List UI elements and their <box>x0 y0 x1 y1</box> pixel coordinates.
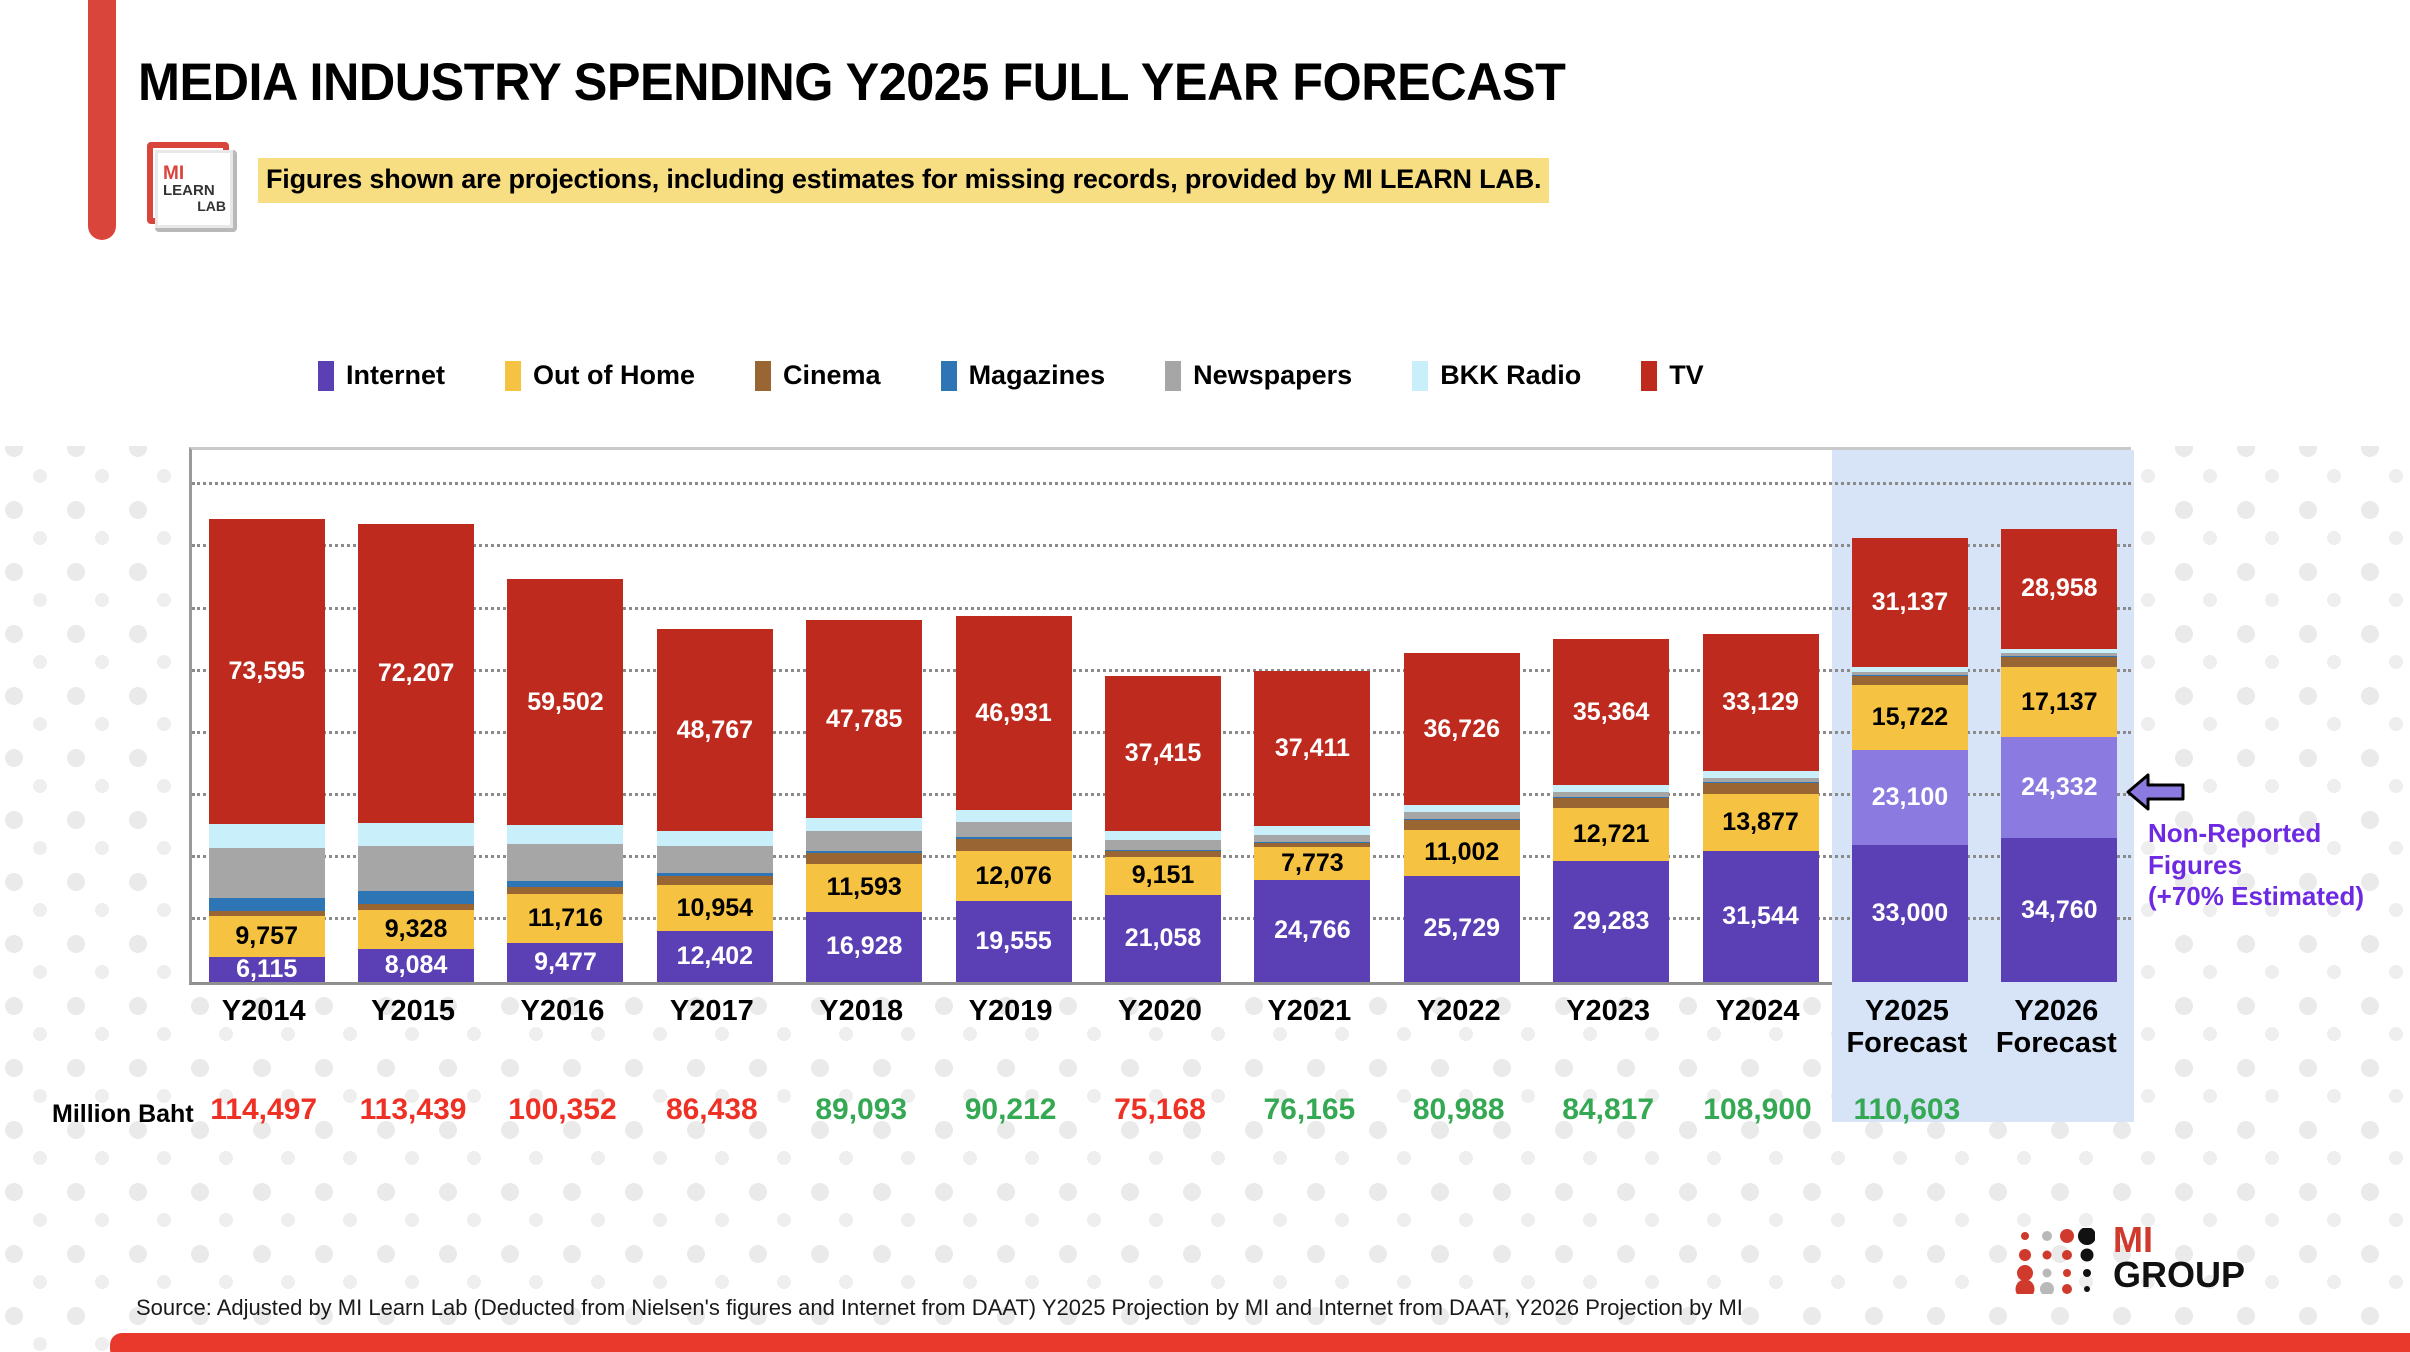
mi-group-dot-matrix-icon <box>2013 1228 2095 1294</box>
bar-segment-tv: 31,137 <box>1852 538 1968 667</box>
bar-segment-value: 17,137 <box>2021 690 2097 715</box>
bar-segment-tv: 35,364 <box>1553 639 1669 785</box>
bar-segment-internet: 19,555 <box>956 901 1072 982</box>
x-axis-label-line1: Y2023 <box>1533 995 1682 1027</box>
bar-segment-value: 19,555 <box>975 929 1051 954</box>
bar-segment-tv: 28,958 <box>2001 529 2117 649</box>
bar-segment-bkk-radio <box>1703 771 1819 778</box>
bar-segment-magazines <box>1404 819 1520 820</box>
bar-segment-out-of-home: 11,593 <box>806 864 922 912</box>
bar-segment-value: 10,954 <box>677 896 753 921</box>
x-axis-label-line2: Forecast <box>1832 1027 1981 1059</box>
x-axis-label-line1: Y2016 <box>488 995 637 1027</box>
bar-segment-value: 21,058 <box>1125 926 1201 951</box>
legend-swatch-icon <box>1412 361 1428 391</box>
x-axis-label-y2020: Y2020 <box>1085 995 1234 1027</box>
total-value-y2022: 80,988 <box>1384 1093 1533 1127</box>
annotation-line-1: Non-Reported <box>2148 818 2364 850</box>
bar-segment-bkk-radio <box>1105 831 1221 840</box>
subtitle-banner: Figures shown are projections, including… <box>258 158 1549 203</box>
bar-segment-value: 48,767 <box>677 718 753 743</box>
legend-label: TV <box>1669 360 1704 391</box>
bar-segment-out-of-home: 17,137 <box>2001 667 2117 738</box>
bar-segment-magazines <box>1703 782 1819 783</box>
header-accent-bar <box>88 0 116 240</box>
total-value-y2020: 75,168 <box>1085 1093 1234 1127</box>
x-axis-label-line1: Y2022 <box>1384 995 1533 1027</box>
bar-segment-value: 37,415 <box>1125 741 1201 766</box>
bar-stack-y2025[interactable]: 33,00023,10015,72231,137 <box>1852 538 1968 982</box>
bar-segment-value: 12,402 <box>677 944 753 969</box>
bar-segment-newspapers <box>1105 840 1221 850</box>
bar-segment-out-of-home: 9,151 <box>1105 857 1221 895</box>
bar-segment-value: 35,364 <box>1573 700 1649 725</box>
bar-segment-out-of-home: 13,877 <box>1703 794 1819 851</box>
bar-segment-out-of-home: 9,757 <box>209 916 325 956</box>
brand-mi: MI <box>2113 1222 2245 1257</box>
bar-segment-internet: 33,000 <box>1852 845 1968 982</box>
bar-segment-value: 23,100 <box>1872 785 1948 810</box>
legend-item-internet[interactable]: Internet <box>318 360 445 391</box>
bar-segment-bkk-radio <box>956 810 1072 822</box>
bar-segment-tv: 36,726 <box>1404 653 1520 805</box>
x-axis-labels: Y2014Y2015Y2016Y2017Y2018Y2019Y2020Y2021… <box>189 995 2131 1081</box>
total-value-y2023: 84,817 <box>1533 1093 1682 1127</box>
x-axis-label-line1: Y2018 <box>787 995 936 1027</box>
bar-segment-newspapers <box>1254 835 1370 842</box>
bar-segment-cinema <box>1105 851 1221 857</box>
bar-segment-value: 33,129 <box>1722 690 1798 715</box>
bar-segment-internet-non-reported: 23,100 <box>1852 750 1968 846</box>
bar-segment-value: 9,477 <box>534 950 597 975</box>
annotation-line-3: (+70% Estimated) <box>2148 881 2364 913</box>
bar-segment-value: 31,137 <box>1872 590 1948 615</box>
bar-segment-out-of-home: 12,076 <box>956 851 1072 901</box>
annotation-line-2: Figures <box>2148 850 2364 882</box>
bar-segment-cinema <box>657 876 773 885</box>
x-axis-label-y2018: Y2018 <box>787 995 936 1027</box>
bar-segment-magazines <box>507 881 623 887</box>
x-axis-label-y2015: Y2015 <box>338 995 487 1027</box>
bar-segment-bkk-radio <box>358 823 474 846</box>
total-value-y2017: 86,438 <box>637 1093 786 1127</box>
bar-segment-bkk-radio <box>1852 667 1968 672</box>
total-value-y2015: 113,439 <box>338 1093 487 1127</box>
bar-segment-bkk-radio <box>1254 826 1370 834</box>
legend-swatch-icon <box>755 361 771 391</box>
bar-segment-value: 11,593 <box>827 875 902 900</box>
bar-stack-y2019[interactable]: 19,55512,07646,931 <box>956 616 1072 982</box>
legend-label: BKK Radio <box>1440 360 1581 391</box>
total-values-row: 114,497113,439100,35286,43889,09390,2127… <box>189 1093 2131 1143</box>
bar-segment-magazines <box>209 898 325 911</box>
bar-segment-internet: 8,084 <box>358 949 474 982</box>
bar-segment-newspapers <box>1404 812 1520 818</box>
bar-stack-y2024[interactable]: 31,54413,87733,129 <box>1703 634 1819 982</box>
bar-segment-out-of-home: 11,716 <box>507 894 623 942</box>
bar-segment-value: 73,595 <box>228 659 304 684</box>
bar-segment-newspapers <box>1703 778 1819 782</box>
x-axis-label-line1: Y2024 <box>1683 995 1832 1027</box>
x-axis-label-line2: Forecast <box>1982 1027 2131 1059</box>
x-axis-label-y2026: Y2026Forecast <box>1982 995 2131 1060</box>
bar-segment-value: 13,877 <box>1722 810 1798 835</box>
bar-segment-value: 24,766 <box>1274 918 1350 943</box>
legend-label: Newspapers <box>1193 360 1352 391</box>
bar-segment-newspapers <box>956 822 1072 837</box>
bar-segment-value: 12,721 <box>1573 822 1649 847</box>
bar-segment-cinema <box>209 911 325 916</box>
bar-segment-internet-non-reported: 24,332 <box>2001 737 2117 838</box>
total-value-y2019: 90,212 <box>936 1093 1085 1127</box>
bar-segment-out-of-home: 12,721 <box>1553 808 1669 861</box>
bar-segment-newspapers <box>657 846 773 873</box>
bar-segment-bkk-radio <box>2001 649 2117 654</box>
bar-segment-value: 46,931 <box>975 701 1051 726</box>
bar-segment-newspapers <box>358 846 474 892</box>
bar-segment-newspapers <box>2001 653 2117 655</box>
bar-segment-tv: 59,502 <box>507 579 623 825</box>
bar-segment-bkk-radio <box>507 825 623 844</box>
bar-segment-value: 7,773 <box>1281 851 1344 876</box>
bar-stack-y2021[interactable]: 24,7667,77337,411 <box>1254 671 1370 982</box>
bar-segment-cinema <box>1553 798 1669 808</box>
legend-label: Out of Home <box>533 360 695 391</box>
logo-text-mi: MI <box>163 164 184 183</box>
bar-segment-value: 29,283 <box>1573 909 1649 934</box>
bar-segment-bkk-radio <box>1404 805 1520 812</box>
legend-label: Cinema <box>783 360 881 391</box>
x-axis-label-y2025: Y2025Forecast <box>1832 995 1981 1060</box>
legend-item-tv[interactable]: TV <box>1641 360 1704 391</box>
bar-segment-out-of-home: 15,722 <box>1852 685 1968 750</box>
legend-item-magazines[interactable]: Magazines <box>941 360 1106 391</box>
bar-segment-magazines <box>1254 842 1370 843</box>
bar-series-container: 6,1159,75773,5958,0849,32872,2079,47711,… <box>192 450 2131 982</box>
x-axis-label-y2019: Y2019 <box>936 995 1085 1027</box>
non-reported-arrow-icon <box>2126 770 2186 814</box>
bar-segment-bkk-radio <box>1553 785 1669 792</box>
x-axis-label-y2017: Y2017 <box>637 995 786 1027</box>
bar-segment-cinema <box>1852 675 1968 685</box>
bar-segment-magazines <box>1105 850 1221 851</box>
x-axis-label-y2024: Y2024 <box>1683 995 1832 1027</box>
bar-segment-value: 15,722 <box>1872 705 1948 730</box>
bar-segment-magazines <box>657 873 773 877</box>
x-axis-label-line1: Y2021 <box>1235 995 1384 1027</box>
x-axis-label-y2014: Y2014 <box>189 995 338 1027</box>
bar-segment-value: 6,115 <box>236 957 297 982</box>
bar-segment-cinema <box>1703 782 1819 794</box>
bar-segment-magazines <box>956 837 1072 839</box>
x-axis-label-line1: Y2020 <box>1085 995 1234 1027</box>
bar-segment-cinema <box>806 853 922 864</box>
bar-segment-value: 16,928 <box>826 934 902 959</box>
mi-learn-lab-logo: MI LEARN LAB <box>145 140 241 235</box>
bar-segment-value: 47,785 <box>826 707 902 732</box>
bar-segment-tv: 33,129 <box>1703 634 1819 771</box>
bar-segment-newspapers <box>209 848 325 898</box>
bar-segment-cinema <box>1404 819 1520 830</box>
x-axis-label-line1: Y2026 <box>1982 995 2131 1027</box>
logo-text-learn: LEARN <box>163 183 215 199</box>
bar-segment-out-of-home: 10,954 <box>657 885 773 930</box>
x-axis-label-y2023: Y2023 <box>1533 995 1682 1027</box>
bar-segment-value: 11,002 <box>1424 840 1499 865</box>
x-axis-label-line1: Y2025 <box>1832 995 1981 1027</box>
bar-stack-y2022[interactable]: 25,72911,00236,726 <box>1404 653 1520 982</box>
bar-segment-tv: 73,595 <box>209 519 325 824</box>
source-note: Source: Adjusted by MI Learn Lab (Deduct… <box>136 1295 1743 1321</box>
bar-segment-internet: 12,402 <box>657 931 773 982</box>
bar-segment-value: 72,207 <box>378 661 454 686</box>
logo-text-lab: LAB <box>197 199 230 214</box>
legend-swatch-icon <box>1165 361 1181 391</box>
bar-segment-internet: 16,928 <box>806 912 922 982</box>
bar-segment-newspapers <box>1553 792 1669 797</box>
bar-segment-internet: 25,729 <box>1404 876 1520 982</box>
brand-group: GROUP <box>2113 1257 2245 1293</box>
bar-segment-value: 9,151 <box>1132 863 1195 888</box>
bar-stack-y2015[interactable]: 8,0849,32872,207 <box>358 524 474 982</box>
bar-stack-y2017[interactable]: 12,40210,95448,767 <box>657 629 773 982</box>
bar-segment-value: 59,502 <box>527 690 603 715</box>
bar-segment-value: 12,076 <box>975 864 1051 889</box>
bar-stack-y2020[interactable]: 21,0589,15137,415 <box>1105 676 1221 982</box>
bar-stack-y2016[interactable]: 9,47711,71659,502 <box>507 579 623 982</box>
bar-segment-bkk-radio <box>209 824 325 849</box>
bar-segment-newspapers <box>507 844 623 881</box>
bar-segment-value: 31,544 <box>1722 904 1798 929</box>
legend-item-newspapers[interactable]: Newspapers <box>1165 360 1352 391</box>
total-value-y2018: 89,093 <box>787 1093 936 1127</box>
bar-stack-y2023[interactable]: 29,28312,72135,364 <box>1553 639 1669 982</box>
legend-swatch-icon <box>1641 361 1657 391</box>
legend-label: Internet <box>346 360 445 391</box>
bar-segment-tv: 46,931 <box>956 616 1072 810</box>
bar-segment-internet: 21,058 <box>1105 895 1221 982</box>
bar-segment-newspapers <box>806 831 922 851</box>
legend-item-cinema[interactable]: Cinema <box>755 360 881 391</box>
bar-stack-y2026[interactable]: 34,76024,33217,13728,958 <box>2001 529 2117 982</box>
bar-segment-newspapers <box>1852 672 1968 675</box>
bar-segment-tv: 37,411 <box>1254 671 1370 826</box>
bar-segment-value: 34,760 <box>2021 898 2097 923</box>
bar-segment-value: 9,757 <box>235 924 298 949</box>
total-value-y2025: 110,603 <box>1832 1093 1981 1127</box>
legend-item-bkk-radio[interactable]: BKK Radio <box>1412 360 1581 391</box>
total-value-y2024: 108,900 <box>1683 1093 1832 1127</box>
bar-segment-cinema <box>1254 843 1370 848</box>
bar-segment-internet: 29,283 <box>1553 861 1669 982</box>
bar-segment-magazines <box>806 851 922 853</box>
bar-segment-bkk-radio <box>657 831 773 845</box>
bar-segment-value: 24,332 <box>2021 775 2097 800</box>
bar-segment-value: 37,411 <box>1275 736 1350 761</box>
bar-segment-value: 33,000 <box>1872 901 1948 926</box>
bar-segment-tv: 72,207 <box>358 524 474 823</box>
bar-segment-value: 25,729 <box>1424 916 1500 941</box>
bar-segment-out-of-home: 7,773 <box>1254 847 1370 879</box>
x-axis-label-line1: Y2019 <box>936 995 1085 1027</box>
x-axis-label-line1: Y2017 <box>637 995 786 1027</box>
chart-legend: InternetOut of HomeCinemaMagazinesNewspa… <box>318 360 1764 391</box>
bar-segment-internet: 6,115 <box>209 957 325 982</box>
total-value-y2021: 76,165 <box>1235 1093 1384 1127</box>
bar-segment-value: 11,716 <box>528 906 603 931</box>
million-baht-label: Million Baht <box>52 1100 194 1129</box>
bar-segment-magazines <box>1553 797 1669 798</box>
bar-segment-tv: 47,785 <box>806 620 922 818</box>
bar-segment-cinema <box>507 887 623 894</box>
x-axis-label-line1: Y2014 <box>189 995 338 1027</box>
non-reported-annotation: Non-Reported Figures (+70% Estimated) <box>2148 818 2364 913</box>
bar-segment-magazines <box>358 891 474 903</box>
bar-segment-internet: 24,766 <box>1254 880 1370 982</box>
footer-accent-bar <box>110 1333 2410 1352</box>
mi-group-logo: MI GROUP <box>2013 1222 2313 1302</box>
bar-segment-tv: 48,767 <box>657 629 773 831</box>
bar-stack-y2014[interactable]: 6,1159,75773,595 <box>209 519 325 982</box>
x-axis-label-line1: Y2015 <box>338 995 487 1027</box>
legend-swatch-icon <box>318 361 334 391</box>
chart-plot-area: 6,1159,75773,5958,0849,32872,2079,47711,… <box>189 447 2131 985</box>
bar-segment-out-of-home: 9,328 <box>358 910 474 949</box>
x-axis-label-y2016: Y2016 <box>488 995 637 1027</box>
bar-segment-value: 8,084 <box>385 953 448 978</box>
bar-stack-y2018[interactable]: 16,92811,59347,785 <box>806 620 922 982</box>
legend-swatch-icon <box>505 361 521 391</box>
bar-segment-value: 9,328 <box>385 917 448 942</box>
page-title: MEDIA INDUSTRY SPENDING Y2025 FULL YEAR … <box>138 52 1565 113</box>
bar-segment-tv: 37,415 <box>1105 676 1221 831</box>
bar-segment-value: 28,958 <box>2021 576 2097 601</box>
bar-segment-out-of-home: 11,002 <box>1404 830 1520 876</box>
bar-segment-value: 36,726 <box>1424 717 1500 742</box>
bar-segment-cinema <box>358 904 474 910</box>
legend-item-out-of-home[interactable]: Out of Home <box>505 360 695 391</box>
bar-segment-internet: 31,544 <box>1703 851 1819 982</box>
bar-segment-internet: 34,760 <box>2001 838 2117 982</box>
bar-segment-internet: 9,477 <box>507 943 623 982</box>
x-axis-label-y2022: Y2022 <box>1384 995 1533 1027</box>
x-axis-label-y2021: Y2021 <box>1235 995 1384 1027</box>
total-value-y2014: 114,497 <box>189 1093 338 1127</box>
bar-segment-bkk-radio <box>806 818 922 831</box>
bar-segment-cinema <box>2001 656 2117 666</box>
total-value-y2016: 100,352 <box>488 1093 637 1127</box>
bar-segment-cinema <box>956 839 1072 851</box>
legend-swatch-icon <box>941 361 957 391</box>
legend-label: Magazines <box>969 360 1106 391</box>
